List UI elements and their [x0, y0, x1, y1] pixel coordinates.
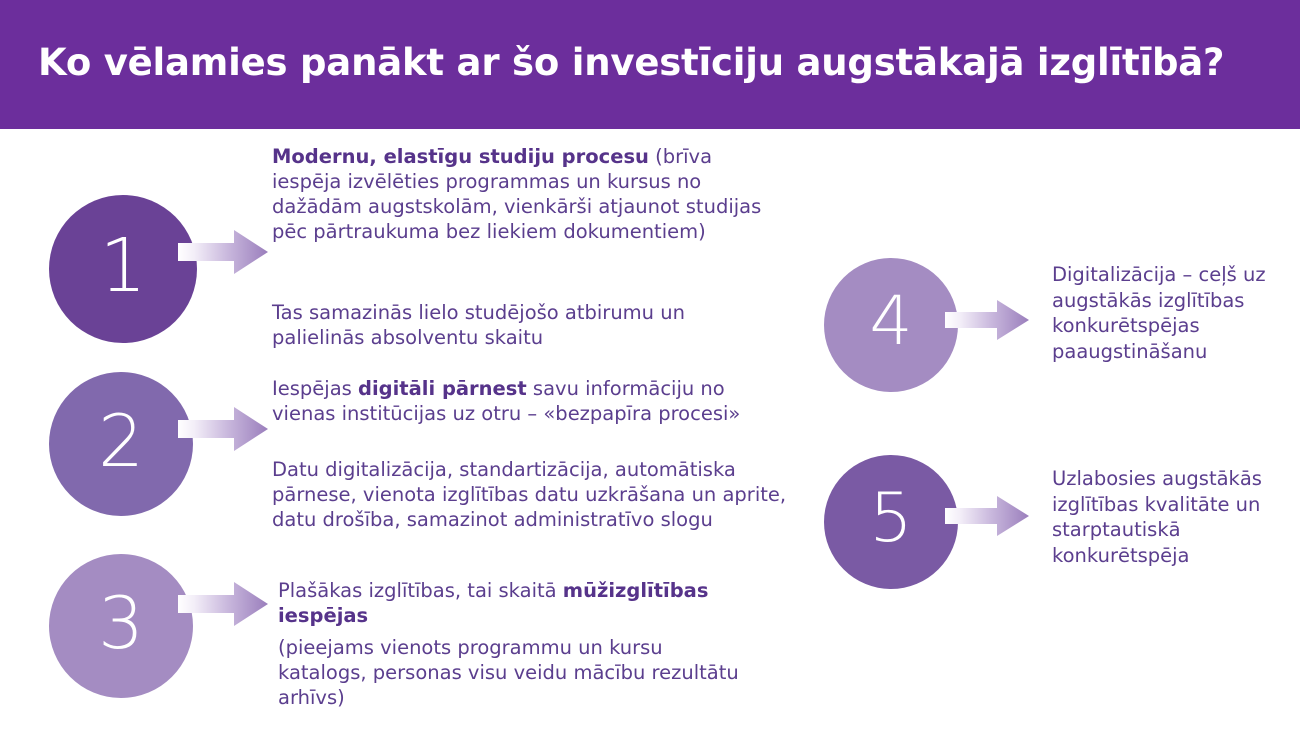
step-1-bold-lead: Modernu, elastīgu studiju procesu	[272, 145, 649, 168]
step-3-text-secondary: (pieejams vienots programmu un kursu kat…	[278, 635, 748, 710]
step-circle-2[interactable]: 2	[49, 372, 193, 516]
step-number-5: 5	[869, 485, 912, 553]
step-2-secondary-rest: Datu digitalizācija, standartizācija, au…	[272, 458, 786, 531]
right-arrow-icon	[178, 228, 268, 276]
step-circle-4[interactable]: 4	[824, 258, 958, 392]
step-2-text-primary: Iespējas digitāli pārnest savu informāci…	[272, 376, 787, 426]
right-arrow-icon	[178, 580, 268, 628]
step-3-secondary-rest: (pieejams vienots programmu un kursu kat…	[278, 636, 739, 709]
step-circle-5[interactable]: 5	[824, 455, 958, 589]
step-number-4: 4	[869, 288, 912, 356]
step-circle-3[interactable]: 3	[49, 554, 193, 698]
step-number-3: 3	[98, 587, 144, 659]
step-3-text-primary: Plašākas izglītības, tai skaitā mūžizglī…	[278, 578, 783, 628]
step-number-1: 1	[99, 229, 146, 303]
step-4-text: Digitalizācija – ceļš uz augstākās izglī…	[1052, 262, 1282, 364]
step-number-2: 2	[98, 405, 144, 477]
step-2-bold-lead: digitāli pārnest	[358, 377, 527, 400]
step-1-secondary-rest: Tas samazinās lielo studējošo atbirumu u…	[272, 301, 685, 349]
page-title: Ko vēlamies panākt ar šo investīciju aug…	[38, 40, 1278, 86]
step-2-prefix: Iespējas	[272, 377, 358, 400]
step-1-text-secondary: Tas samazinās lielo studējošo atbirumu u…	[272, 300, 772, 350]
right-arrow-icon	[945, 298, 1029, 342]
right-arrow-icon	[178, 405, 268, 453]
step-2-text-secondary: Datu digitalizācija, standartizācija, au…	[272, 457, 787, 532]
step-1-text-primary: Modernu, elastīgu studiju procesu (brīva…	[272, 144, 787, 244]
infographic-slide: Ko vēlamies panākt ar šo investīciju aug…	[0, 0, 1300, 731]
step-circle-1[interactable]: 1	[49, 195, 197, 343]
step-5-text: Uzlabosies augstākās izglītības kvalitāt…	[1052, 466, 1282, 568]
step-3-prefix: Plašākas izglītības, tai skaitā	[278, 579, 563, 602]
right-arrow-icon	[945, 494, 1029, 538]
